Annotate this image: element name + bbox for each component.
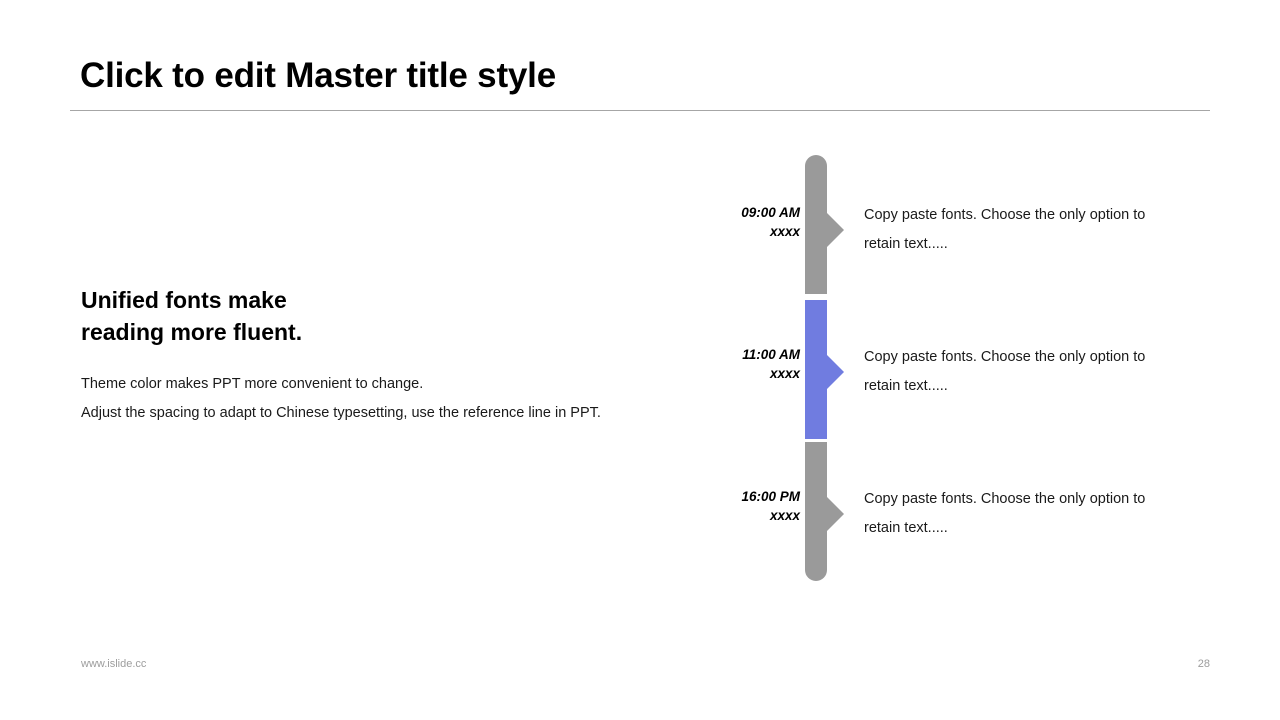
page-title: Click to edit Master title style: [80, 56, 1210, 96]
timeline-bar-fill: [805, 155, 827, 294]
timeline-item[interactable]: 11:00 AM xxxx Copy paste fonts. Choose t…: [700, 297, 1200, 439]
timeline-bar-segment: [805, 297, 827, 439]
footer-url[interactable]: www.islide.cc: [81, 658, 146, 670]
section-body-text: Theme color makes PPT more convenient to…: [81, 370, 621, 428]
arrow-right-icon: [827, 213, 844, 247]
timeline-graphic: 09:00 AM xxxx Copy paste fonts. Choose t…: [700, 155, 1200, 581]
timeline-item-description: Copy paste fonts. Choose the only option…: [864, 343, 1184, 401]
title-divider: [70, 110, 1210, 111]
arrow-right-icon: [827, 497, 844, 531]
page-number: 28: [1160, 658, 1210, 670]
timeline-item[interactable]: 16:00 PM xxxx Copy paste fonts. Choose t…: [700, 439, 1200, 581]
timeline-item-description: Copy paste fonts. Choose the only option…: [864, 485, 1184, 543]
timeline-item-description: Copy paste fonts. Choose the only option…: [864, 201, 1184, 259]
timeline-bar-fill: [805, 442, 827, 581]
timeline-bar-segment: [805, 439, 827, 581]
timeline-bar-fill: [805, 300, 827, 439]
timeline-item-time: 09:00 AM xxxx: [700, 203, 800, 241]
timeline-bar-segment: [805, 155, 827, 297]
arrow-right-icon: [827, 355, 844, 389]
timeline-item-time: 16:00 PM xxxx: [700, 487, 800, 525]
section-heading: Unified fonts make reading more fluent.: [81, 284, 621, 348]
left-content-block: Unified fonts make reading more fluent. …: [81, 284, 621, 428]
timeline-item[interactable]: 09:00 AM xxxx Copy paste fonts. Choose t…: [700, 155, 1200, 297]
timeline-item-time: 11:00 AM xxxx: [700, 345, 800, 383]
